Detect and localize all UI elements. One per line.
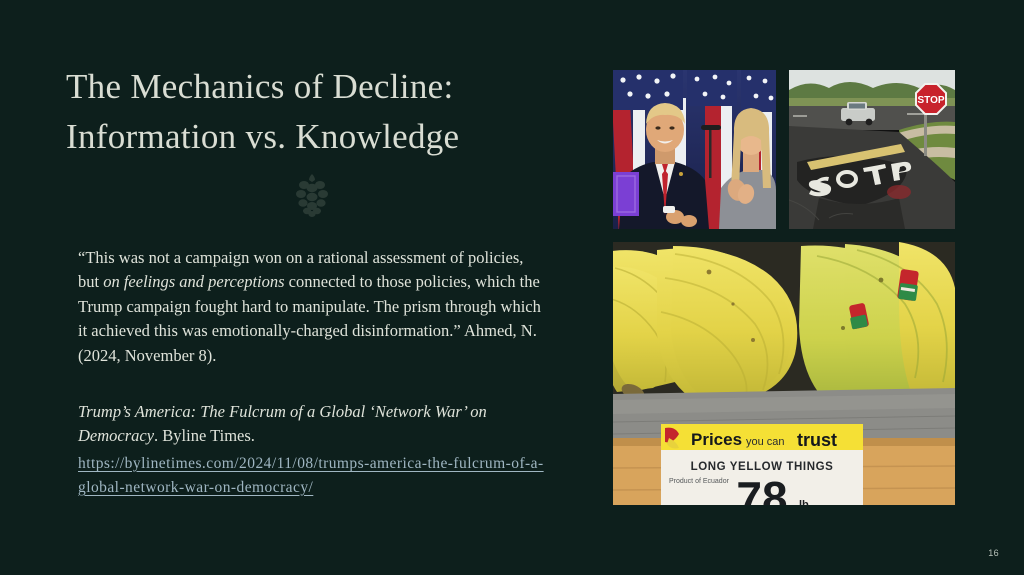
- citation-title: Trump’s America: The Fulcrum of a Global…: [78, 402, 487, 445]
- svg-text:Product of Ecuador: Product of Ecuador: [669, 478, 730, 485]
- citation-link[interactable]: https://bylinetimes.com/2024/11/08/trump…: [78, 452, 548, 500]
- slide-number: 16: [988, 548, 999, 558]
- title-line-1: The Mechanics of Decline:: [66, 62, 586, 112]
- svg-text:you can: you can: [746, 436, 785, 448]
- svg-text:Prices: Prices: [691, 430, 742, 449]
- pinecone-ornament-icon: [290, 172, 334, 218]
- citation-publisher: . Byline Times.: [154, 426, 255, 445]
- quote-emphasis: on feelings and perceptions: [103, 272, 284, 291]
- svg-text:lb: lb: [799, 499, 809, 505]
- svg-text:trust: trust: [797, 430, 837, 450]
- page-title: The Mechanics of Decline: Information vs…: [66, 62, 586, 162]
- citation: Trump’s America: The Fulcrum of a Global…: [78, 400, 548, 500]
- quote-text: “This was not a campaign won on a ration…: [78, 246, 548, 368]
- photo-trump-rally: [613, 70, 776, 229]
- svg-text:STOP: STOP: [917, 95, 944, 106]
- photo-sotp-road: STOP: [789, 70, 955, 229]
- presentation-slide: The Mechanics of Decline: Information vs…: [0, 0, 1024, 575]
- photo-bananas-price-sign: Prices you can trust LONG YELLOW THINGS …: [613, 242, 955, 505]
- title-line-2: Information vs. Knowledge: [66, 112, 586, 162]
- svg-text:78: 78: [736, 472, 787, 505]
